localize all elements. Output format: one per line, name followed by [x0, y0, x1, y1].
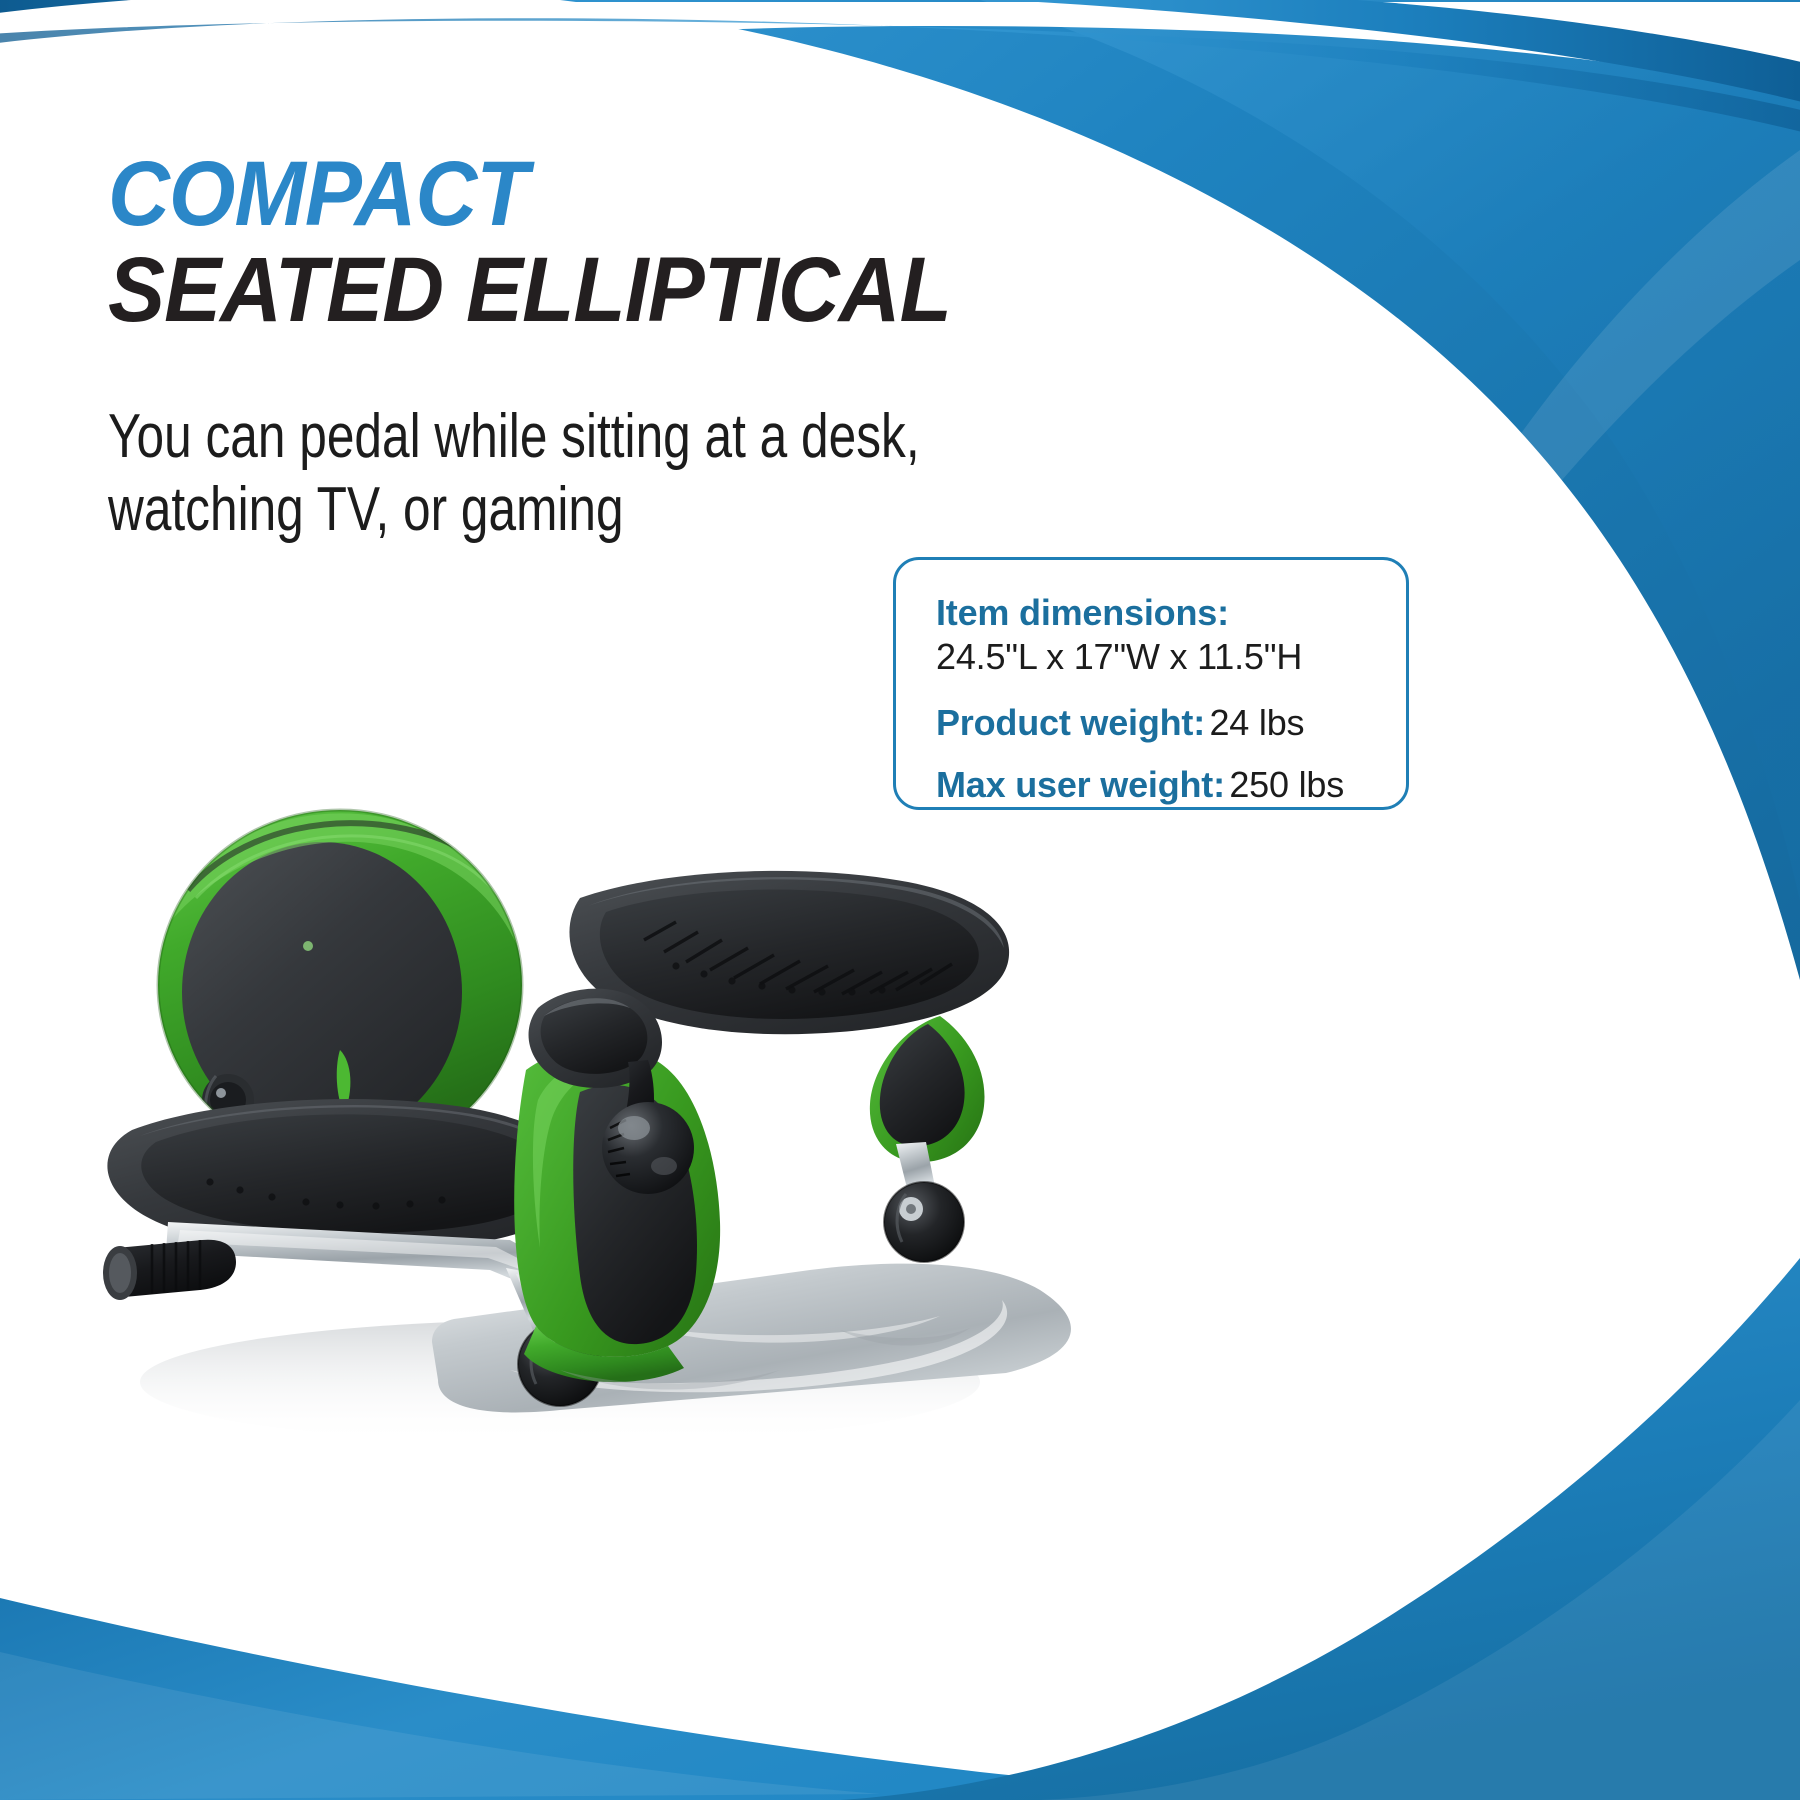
tension-knob: [602, 1102, 694, 1194]
headline: COMPACT SEATED ELLIPTICAL: [108, 150, 1308, 336]
headline-line-seated-elliptical: SEATED ELLIPTICAL: [108, 244, 1224, 336]
spec-value-product-weight: 24 lbs: [1209, 702, 1304, 743]
spec-label-dimensions: Item dimensions:: [936, 590, 1380, 636]
product-feature-card: COMPACT SEATED ELLIPTICAL You can pedal …: [0, 0, 1800, 1800]
top-arc-ribbon: [0, 0, 1800, 134]
spec-value-dimensions: 24.5"L x 17"W x 11.5"H: [936, 634, 1380, 680]
subheading-line-1: You can pedal while sitting at a desk,: [108, 400, 1036, 473]
spec-row-product-weight: Product weight: 24 lbs: [936, 700, 1380, 746]
headline-line-compact: COMPACT: [108, 150, 1224, 238]
product-image-seated-elliptical: [40, 770, 1160, 1470]
spec-label-product-weight: Product weight:: [936, 702, 1205, 743]
subheading: You can pedal while sitting at a desk, w…: [108, 400, 1268, 546]
spec-value-max-user-weight: 250 lbs: [1229, 764, 1344, 805]
subheading-line-2: watching TV, or gaming: [108, 473, 1036, 546]
spec-row-dimensions: Item dimensions: 24.5"L x 17"W x 11.5"H: [936, 590, 1380, 680]
bottom-left-wave: [0, 1598, 1500, 1800]
